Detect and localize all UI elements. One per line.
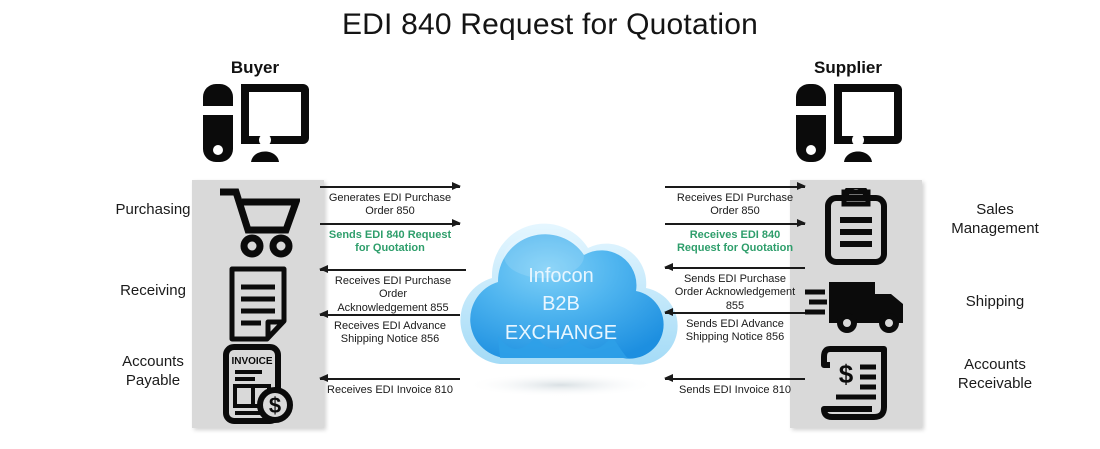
- flow-caption-line: Order 850: [320, 205, 460, 218]
- flow-caption-line: Receives EDI Purchase: [665, 192, 805, 205]
- role-label-purchasing: Purchasing: [88, 201, 218, 220]
- role-label-text: Sales: [930, 201, 1060, 220]
- arrow-right-icon: [665, 219, 805, 228]
- flow-buyer-receives-asn-856: Receives EDI Advance Shipping Notice 856: [320, 310, 460, 347]
- flow-buyer-generates-po-850: Generates EDI Purchase Order 850: [320, 182, 460, 219]
- clipboard-icon: [822, 188, 890, 266]
- flow-supplier-receives-po-850: Receives EDI Purchase Order 850: [665, 182, 805, 219]
- arrow-left-icon: [665, 263, 805, 272]
- page-title: EDI 840 Request for Quotation: [0, 8, 1100, 42]
- flow-supplier-sends-asn-856: Sends EDI Advance Shipping Notice 856: [665, 308, 805, 345]
- flow-caption-line: Sends EDI Invoice 810: [665, 384, 805, 397]
- svg-text:INVOICE: INVOICE: [231, 356, 272, 367]
- flow-caption-line: Sends EDI Advance: [665, 318, 805, 331]
- cloud-icon: Infocon B2B EXCHANGE: [438, 186, 684, 401]
- svg-text:$: $: [269, 393, 281, 418]
- flow-caption: Sends EDI Invoice 810: [665, 384, 805, 397]
- role-label-text: Accounts: [930, 356, 1060, 375]
- role-label-text: Shipping: [966, 293, 1024, 310]
- arrow-left-icon: [665, 308, 805, 317]
- flow-caption: Sends EDI 840 Request for Quotation: [320, 229, 460, 256]
- arrow-right-icon: [665, 182, 805, 191]
- shopping-cart-icon: [216, 186, 300, 258]
- buyer-label: Buyer: [185, 58, 325, 78]
- diagram-canvas: EDI 840 Request for Quotation Buyer Supp…: [0, 0, 1100, 449]
- desktop-computer-icon: [778, 80, 918, 166]
- arrow-left-icon: [665, 374, 805, 383]
- role-label-text: Receiving: [120, 282, 186, 299]
- role-label-text: Purchasing: [115, 201, 190, 218]
- role-label-text: Payable: [88, 372, 218, 391]
- flow-caption-line: Request for Quotation: [665, 242, 805, 255]
- role-label-sales-management: Sales Management: [930, 201, 1060, 239]
- flow-caption-line: Receives EDI Advance: [320, 320, 460, 333]
- arrow-right-icon: [320, 219, 460, 228]
- flow-caption-line: Generates EDI Purchase: [320, 192, 460, 205]
- svg-text:$: $: [839, 359, 854, 389]
- role-label-accounts-receivable: Accounts Receivable: [930, 356, 1060, 394]
- invoice-scroll-dollar-icon: $: [818, 343, 894, 423]
- role-label-text: Accounts: [88, 353, 218, 372]
- flow-supplier-receives-840-rfq: Receives EDI 840 Request for Quotation: [665, 219, 805, 256]
- invoice-dollar-icon: INVOICE $: [220, 343, 296, 425]
- role-label-text: Management: [930, 220, 1060, 239]
- role-label-shipping: Shipping: [930, 293, 1060, 312]
- arrow-left-icon: [320, 265, 466, 274]
- flow-buyer-sends-840-rfq: Sends EDI 840 Request for Quotation: [320, 219, 460, 256]
- flow-caption: Sends EDI Advance Shipping Notice 856: [665, 318, 805, 345]
- buyer-endpoint: Buyer: [185, 58, 325, 166]
- flow-caption-line: Shipping Notice 856: [665, 331, 805, 344]
- flow-caption-line: Sends EDI 840 Request: [320, 229, 460, 242]
- supplier-department-panel: $: [790, 180, 922, 428]
- flow-caption-line: Sends EDI Purchase: [665, 273, 805, 286]
- arrow-left-icon: [320, 310, 460, 319]
- flow-caption-line: Shipping Notice 856: [320, 333, 460, 346]
- supplier-endpoint: Supplier: [778, 58, 918, 166]
- flow-caption-line: Receives EDI Purchase Order: [320, 275, 466, 302]
- desktop-computer-icon: [185, 80, 325, 166]
- flow-caption: Receives EDI Advance Shipping Notice 856: [320, 320, 460, 347]
- flow-caption-line: for Quotation: [320, 242, 460, 255]
- flow-buyer-receives-po-ack-855: Receives EDI Purchase Order Acknowledgem…: [320, 265, 466, 315]
- flow-supplier-sends-invoice-810: Sends EDI Invoice 810: [665, 374, 805, 397]
- document-lines-icon: [227, 265, 289, 343]
- flow-caption-line: Receives EDI Invoice 810: [320, 384, 460, 397]
- flow-caption: Receives EDI 840 Request for Quotation: [665, 229, 805, 256]
- flow-supplier-sends-po-ack-855: Sends EDI Purchase Order Acknowledgement…: [665, 263, 805, 313]
- flow-caption: Generates EDI Purchase Order 850: [320, 192, 460, 219]
- flow-caption-line: Order Acknowledgement: [665, 286, 805, 299]
- flow-caption-line: Order 850: [665, 205, 805, 218]
- flow-buyer-receives-invoice-810: Receives EDI Invoice 810: [320, 374, 460, 397]
- arrow-right-icon: [320, 182, 460, 191]
- supplier-label: Supplier: [778, 58, 918, 78]
- arrow-left-icon: [320, 374, 460, 383]
- role-label-accounts-payable: Accounts Payable: [88, 353, 218, 391]
- role-label-receiving: Receiving: [88, 282, 218, 301]
- flow-caption: Receives EDI Purchase Order 850: [665, 192, 805, 219]
- flow-caption: Receives EDI Invoice 810: [320, 384, 460, 397]
- role-label-text: Receivable: [930, 375, 1060, 394]
- flow-caption-line: Receives EDI 840: [665, 229, 805, 242]
- delivery-truck-icon: [803, 276, 909, 334]
